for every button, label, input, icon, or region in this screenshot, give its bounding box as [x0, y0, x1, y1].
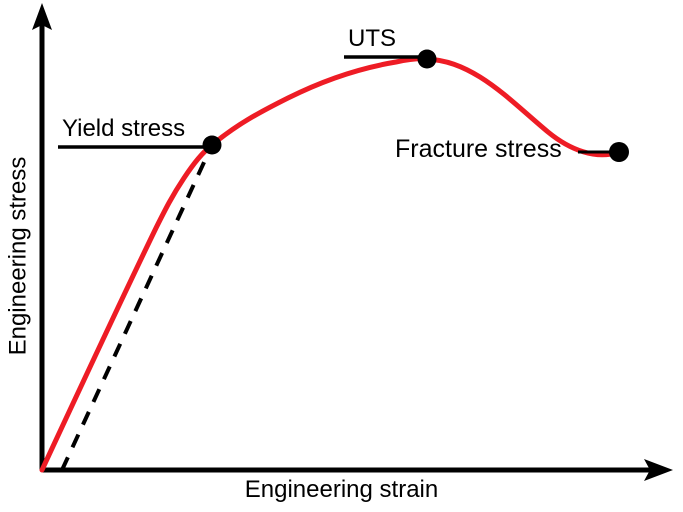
y-axis-label-text: Engineering stress	[6, 157, 30, 356]
x-axis-label: Engineering strain	[0, 478, 683, 502]
elastic-tangent-dashed-line	[62, 145, 212, 470]
fracture-stress-label: Fracture stress	[395, 137, 562, 162]
stress-strain-diagram: Yield stress UTS Fracture stress Enginee…	[0, 0, 683, 512]
fracture-point-marker	[609, 142, 629, 162]
plot-canvas	[0, 0, 683, 512]
yield-stress-label: Yield stress	[62, 117, 185, 141]
yield-point-marker	[203, 136, 222, 155]
y-axis-label: Engineering stress	[0, 0, 36, 512]
uts-label: UTS	[348, 27, 396, 51]
uts-point-marker	[418, 50, 437, 69]
